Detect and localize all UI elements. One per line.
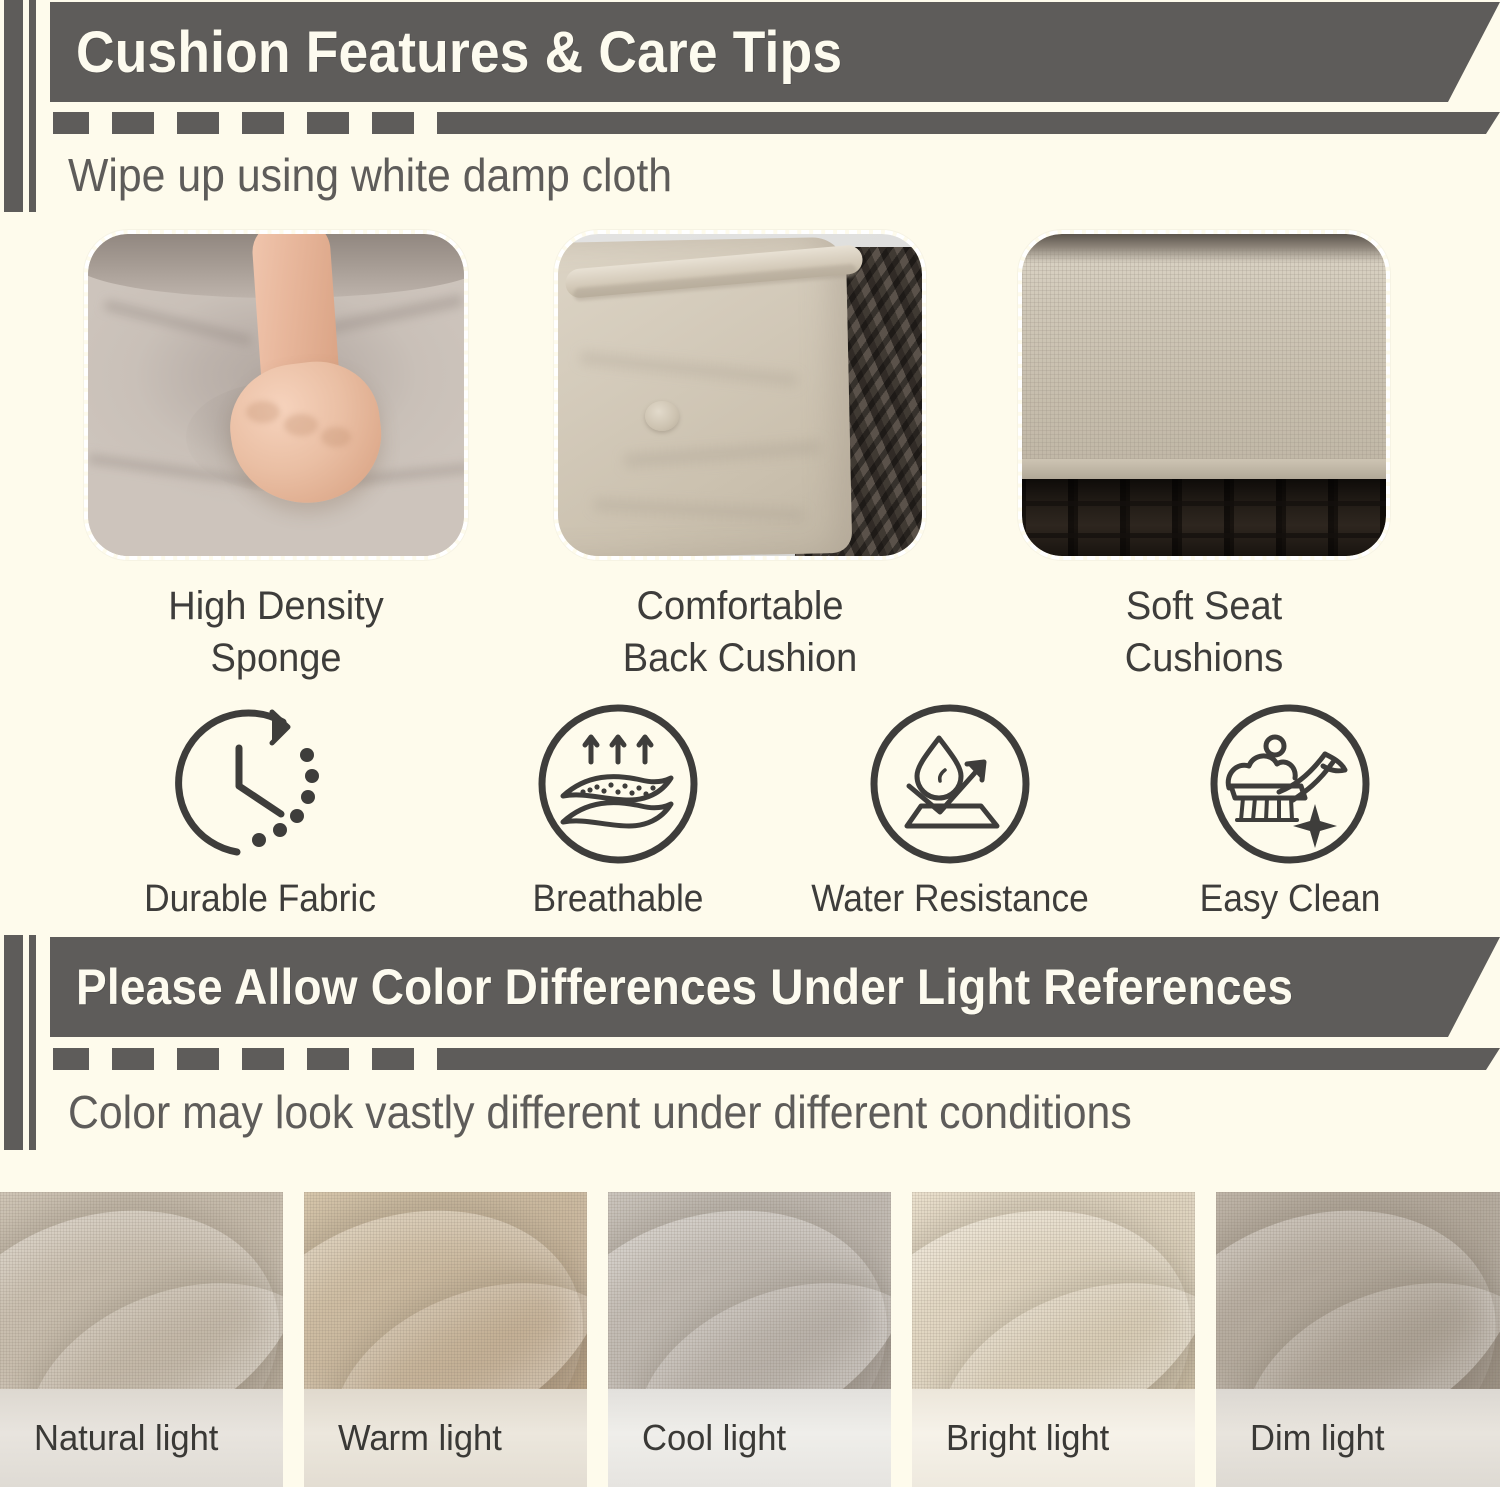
left-rail-thin-top — [29, 0, 36, 212]
fabric-top-shadow — [1022, 234, 1386, 263]
color-banner-title: Please Allow Color Differences Under Lig… — [76, 958, 1293, 1016]
feature-label: Durable Fabric — [102, 878, 418, 921]
feature-water-resistance: Water Resistance — [760, 700, 1140, 921]
swatch-natural-light: Natural light — [0, 1192, 283, 1487]
seat-cushion-photo — [1018, 230, 1390, 560]
care-banner-title: Cushion Features & Care Tips — [76, 19, 842, 86]
dash-segment — [112, 1048, 154, 1070]
feature-easy-clean: Easy Clean — [1120, 700, 1460, 921]
hand-pressing-cushion-photo — [84, 230, 468, 560]
photo-card-comfortable-back-cushion — [554, 230, 926, 560]
left-rail-thin-bottom — [29, 935, 36, 1150]
color-subtitle: Color may look vastly different under di… — [68, 1085, 1132, 1139]
swatch-label: Natural light — [34, 1417, 218, 1459]
dash-segment — [307, 1048, 349, 1070]
wicker-rail — [1022, 501, 1386, 506]
feature-label: Breathable — [460, 878, 776, 921]
color-banner: Please Allow Color Differences Under Lig… — [50, 937, 1500, 1037]
swatch-label-band: Dim light — [1216, 1389, 1500, 1487]
caption-line-2: Back Cushion — [550, 632, 930, 684]
swatch-label-band: Cool light — [608, 1389, 891, 1487]
clock-arrow-icon — [171, 700, 349, 868]
swatch-cool-light: Cool light — [608, 1192, 891, 1487]
caption-line-1: Comfortable — [550, 580, 930, 632]
dash-segment — [242, 1048, 284, 1070]
dash-segment — [372, 112, 414, 134]
dash-solid-bar — [437, 112, 1500, 134]
swatch-label-band: Bright light — [912, 1389, 1195, 1487]
feature-durable-fabric: Durable Fabric — [90, 700, 430, 921]
color-dash-divider — [53, 1048, 1500, 1070]
scrub-brush-icon — [1201, 700, 1379, 868]
dash-segment — [177, 1048, 219, 1070]
caption-line-2: Cushions — [1027, 632, 1380, 684]
swatch-label: Bright light — [946, 1417, 1109, 1459]
breathable-fabric-icon — [529, 700, 707, 868]
sparkle-icon — [1293, 804, 1337, 848]
care-subtitle: Wipe up using white damp cloth — [68, 148, 672, 202]
photo-card-soft-seat-cushions — [1018, 230, 1390, 560]
caption-comfortable-back-cushion: Comfortable Back Cushion — [550, 580, 930, 684]
left-rail-thick-bottom — [4, 935, 23, 1150]
dash-segment — [53, 112, 89, 134]
dash-segment — [53, 1048, 89, 1070]
cushion-fabric — [1022, 234, 1386, 479]
photo-inner — [1022, 234, 1386, 556]
photo-card-high-density-sponge — [84, 230, 468, 560]
swatch-label: Warm light — [338, 1417, 502, 1459]
feature-label: Water Resistance — [773, 878, 1126, 921]
swatch-bright-light: Bright light — [912, 1192, 1195, 1487]
wicker-rail — [1022, 533, 1386, 538]
photo-inner — [558, 234, 922, 556]
infographic-page: Cushion Features & Care Tips Wipe up usi… — [0, 0, 1500, 1487]
feature-breathable: Breathable — [448, 700, 788, 921]
feature-label: Easy Clean — [1132, 878, 1448, 921]
swatch-label: Cool light — [642, 1417, 786, 1459]
caption-line-1: Soft Seat — [1027, 580, 1380, 632]
swatch-dim-light: Dim light — [1216, 1192, 1500, 1487]
caption-line-1: High Density — [94, 580, 459, 632]
dash-segment — [177, 112, 219, 134]
dash-segment — [307, 112, 349, 134]
dash-solid-bar — [437, 1048, 1500, 1070]
wicker-base — [1022, 479, 1386, 556]
swatch-label-band: Natural light — [0, 1389, 283, 1487]
care-dash-divider — [53, 112, 1500, 134]
water-droplet-repel-icon — [861, 700, 1039, 868]
swatch-label-band: Warm light — [304, 1389, 587, 1487]
left-rail-thick-top — [4, 0, 23, 212]
caption-soft-seat-cushions: Soft Seat Cushions — [1027, 580, 1380, 684]
caption-high-density-sponge: High Density Sponge — [94, 580, 459, 684]
care-banner: Cushion Features & Care Tips — [50, 2, 1500, 102]
dash-segment — [112, 112, 154, 134]
caption-line-2: Sponge — [94, 632, 459, 684]
photo-inner — [88, 234, 464, 556]
swatch-warm-light: Warm light — [304, 1192, 587, 1487]
dash-segment — [372, 1048, 414, 1070]
knuckle — [284, 414, 318, 436]
back-cushion-photo — [554, 230, 926, 560]
dash-segment — [242, 112, 284, 134]
swatch-label: Dim light — [1250, 1417, 1384, 1459]
